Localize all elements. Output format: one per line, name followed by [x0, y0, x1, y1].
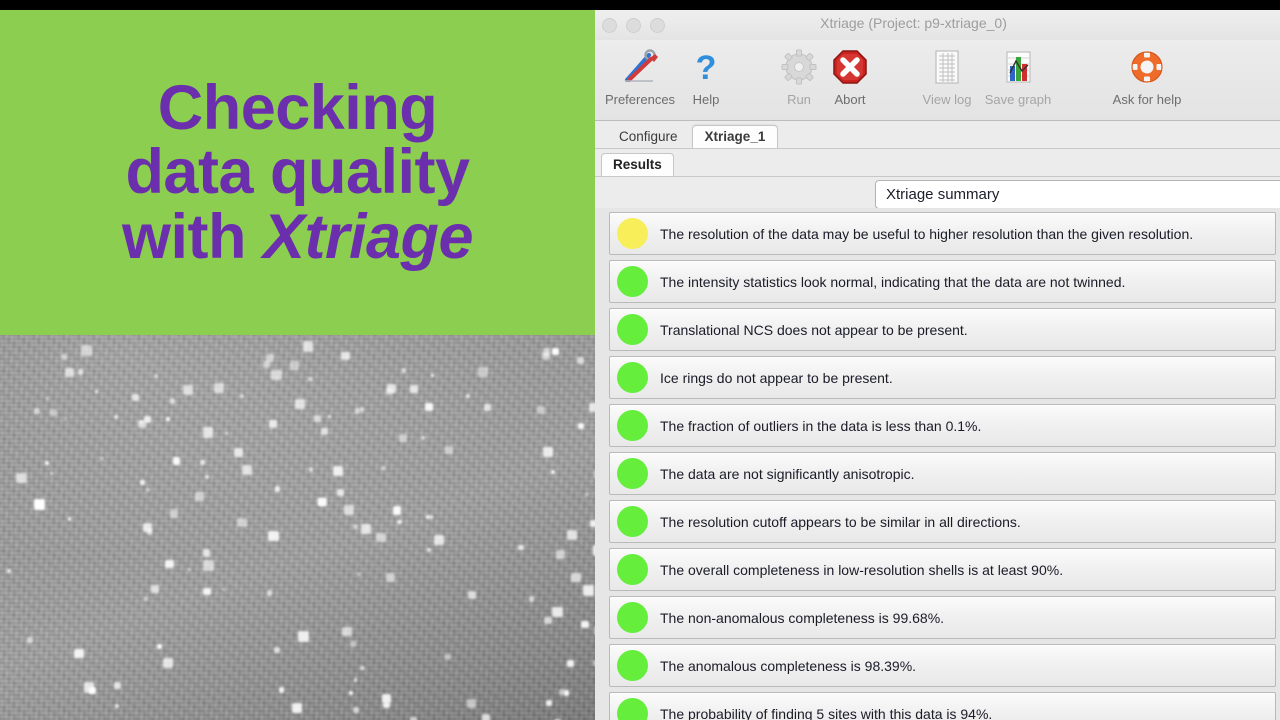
slide-title-line-1: Checking: [158, 76, 438, 140]
result-row[interactable]: Ice rings do not appear to be present.: [609, 356, 1276, 399]
status-dot-ok: [617, 698, 648, 720]
toolbar-button-save-graph[interactable]: Save graph: [976, 45, 1060, 107]
status-dot-ok: [617, 314, 648, 345]
result-row[interactable]: The anomalous completeness is 98.39%.: [609, 644, 1276, 687]
bar-chart-icon: [998, 45, 1038, 89]
window-titlebar: Xtriage (Project: p9-xtriage_0): [595, 10, 1280, 40]
tools-icon: [620, 45, 660, 89]
result-message: The non-anomalous completeness is 99.68%…: [660, 610, 944, 626]
document-icon: [927, 45, 967, 89]
summary-select-value: Xtriage summary: [876, 186, 999, 203]
result-message: The fraction of outliers in the data is …: [660, 418, 981, 434]
result-row[interactable]: Translational NCS does not appear to be …: [609, 308, 1276, 351]
status-dot-ok: [617, 410, 648, 441]
result-message: The resolution cutoff appears to be simi…: [660, 514, 1021, 530]
status-dot-ok: [617, 554, 648, 585]
status-dot-ok: [617, 650, 648, 681]
result-message: Translational NCS does not appear to be …: [660, 322, 968, 338]
secondary-tab-strip: Results: [595, 149, 1280, 177]
result-row[interactable]: The resolution cutoff appears to be simi…: [609, 500, 1276, 543]
result-row[interactable]: The data are not significantly anisotrop…: [609, 452, 1276, 495]
main-toolbar: Preferences ? Help: [595, 40, 1280, 121]
result-row[interactable]: The resolution of the data may be useful…: [609, 212, 1276, 255]
diffraction-image: [0, 335, 595, 720]
result-row[interactable]: The fraction of outliers in the data is …: [609, 404, 1276, 447]
toolbar-label-save-graph: Save graph: [985, 92, 1052, 107]
status-dot-warning: [617, 218, 648, 249]
toolbar-button-help[interactable]: ? Help: [664, 45, 748, 107]
toolbar-label-ask-for-help: Ask for help: [1113, 92, 1182, 107]
result-message: The probability of finding 5 sites with …: [660, 706, 992, 720]
result-message: The intensity statistics look normal, in…: [660, 274, 1125, 290]
status-dot-ok: [617, 506, 648, 537]
tab-results[interactable]: Results: [601, 153, 674, 176]
result-row[interactable]: The non-anomalous completeness is 99.68%…: [609, 596, 1276, 639]
svg-text:?: ?: [696, 49, 717, 87]
slide-title-line-3: with Xtriage: [122, 205, 473, 269]
result-message: The resolution of the data may be useful…: [660, 226, 1193, 242]
slide-title-line-2: data quality: [125, 140, 469, 204]
question-icon: ?: [686, 45, 726, 89]
window-title: Xtriage (Project: p9-xtriage_0): [595, 15, 1232, 31]
result-message: The overall completeness in low-resoluti…: [660, 562, 1063, 578]
tab-configure[interactable]: Configure: [607, 126, 690, 148]
results-list: The resolution of the data may be useful…: [595, 208, 1280, 720]
toolbar-label-help: Help: [693, 92, 720, 107]
toolbar-label-view-log: View log: [923, 92, 972, 107]
stop-x-icon: [830, 45, 870, 89]
toolbar-label-abort: Abort: [834, 92, 865, 107]
slide-title-line-3-prefix: with: [122, 202, 263, 272]
result-message: The data are not significantly anisotrop…: [660, 466, 914, 482]
title-slide: Checking data quality with Xtriage: [0, 10, 595, 335]
toolbar-button-ask-for-help[interactable]: Ask for help: [1105, 45, 1189, 107]
toolbar-button-abort[interactable]: Abort: [808, 45, 892, 107]
slide-title-line-3-emphasis: Xtriage: [263, 202, 473, 272]
life-ring-icon: [1127, 45, 1167, 89]
status-dot-ok: [617, 458, 648, 489]
result-message: Ice rings do not appear to be present.: [660, 370, 893, 386]
summary-select[interactable]: Xtriage summary: [875, 180, 1280, 209]
status-dot-ok: [617, 266, 648, 297]
primary-tab-strip: Configure Xtriage_1: [595, 121, 1280, 149]
status-dot-ok: [617, 602, 648, 633]
status-dot-ok: [617, 362, 648, 393]
screenshot-root: Checking data quality with Xtriage Xtria…: [0, 0, 1280, 720]
tab-xtriage-1[interactable]: Xtriage_1: [692, 125, 779, 148]
result-row[interactable]: The intensity statistics look normal, in…: [609, 260, 1276, 303]
diffraction-noise: [0, 335, 595, 720]
xtriage-window: Xtriage (Project: p9-xtriage_0) Preferen…: [595, 10, 1280, 720]
result-row[interactable]: The probability of finding 5 sites with …: [609, 692, 1276, 720]
result-row[interactable]: The overall completeness in low-resoluti…: [609, 548, 1276, 591]
result-message: The anomalous completeness is 98.39%.: [660, 658, 916, 674]
